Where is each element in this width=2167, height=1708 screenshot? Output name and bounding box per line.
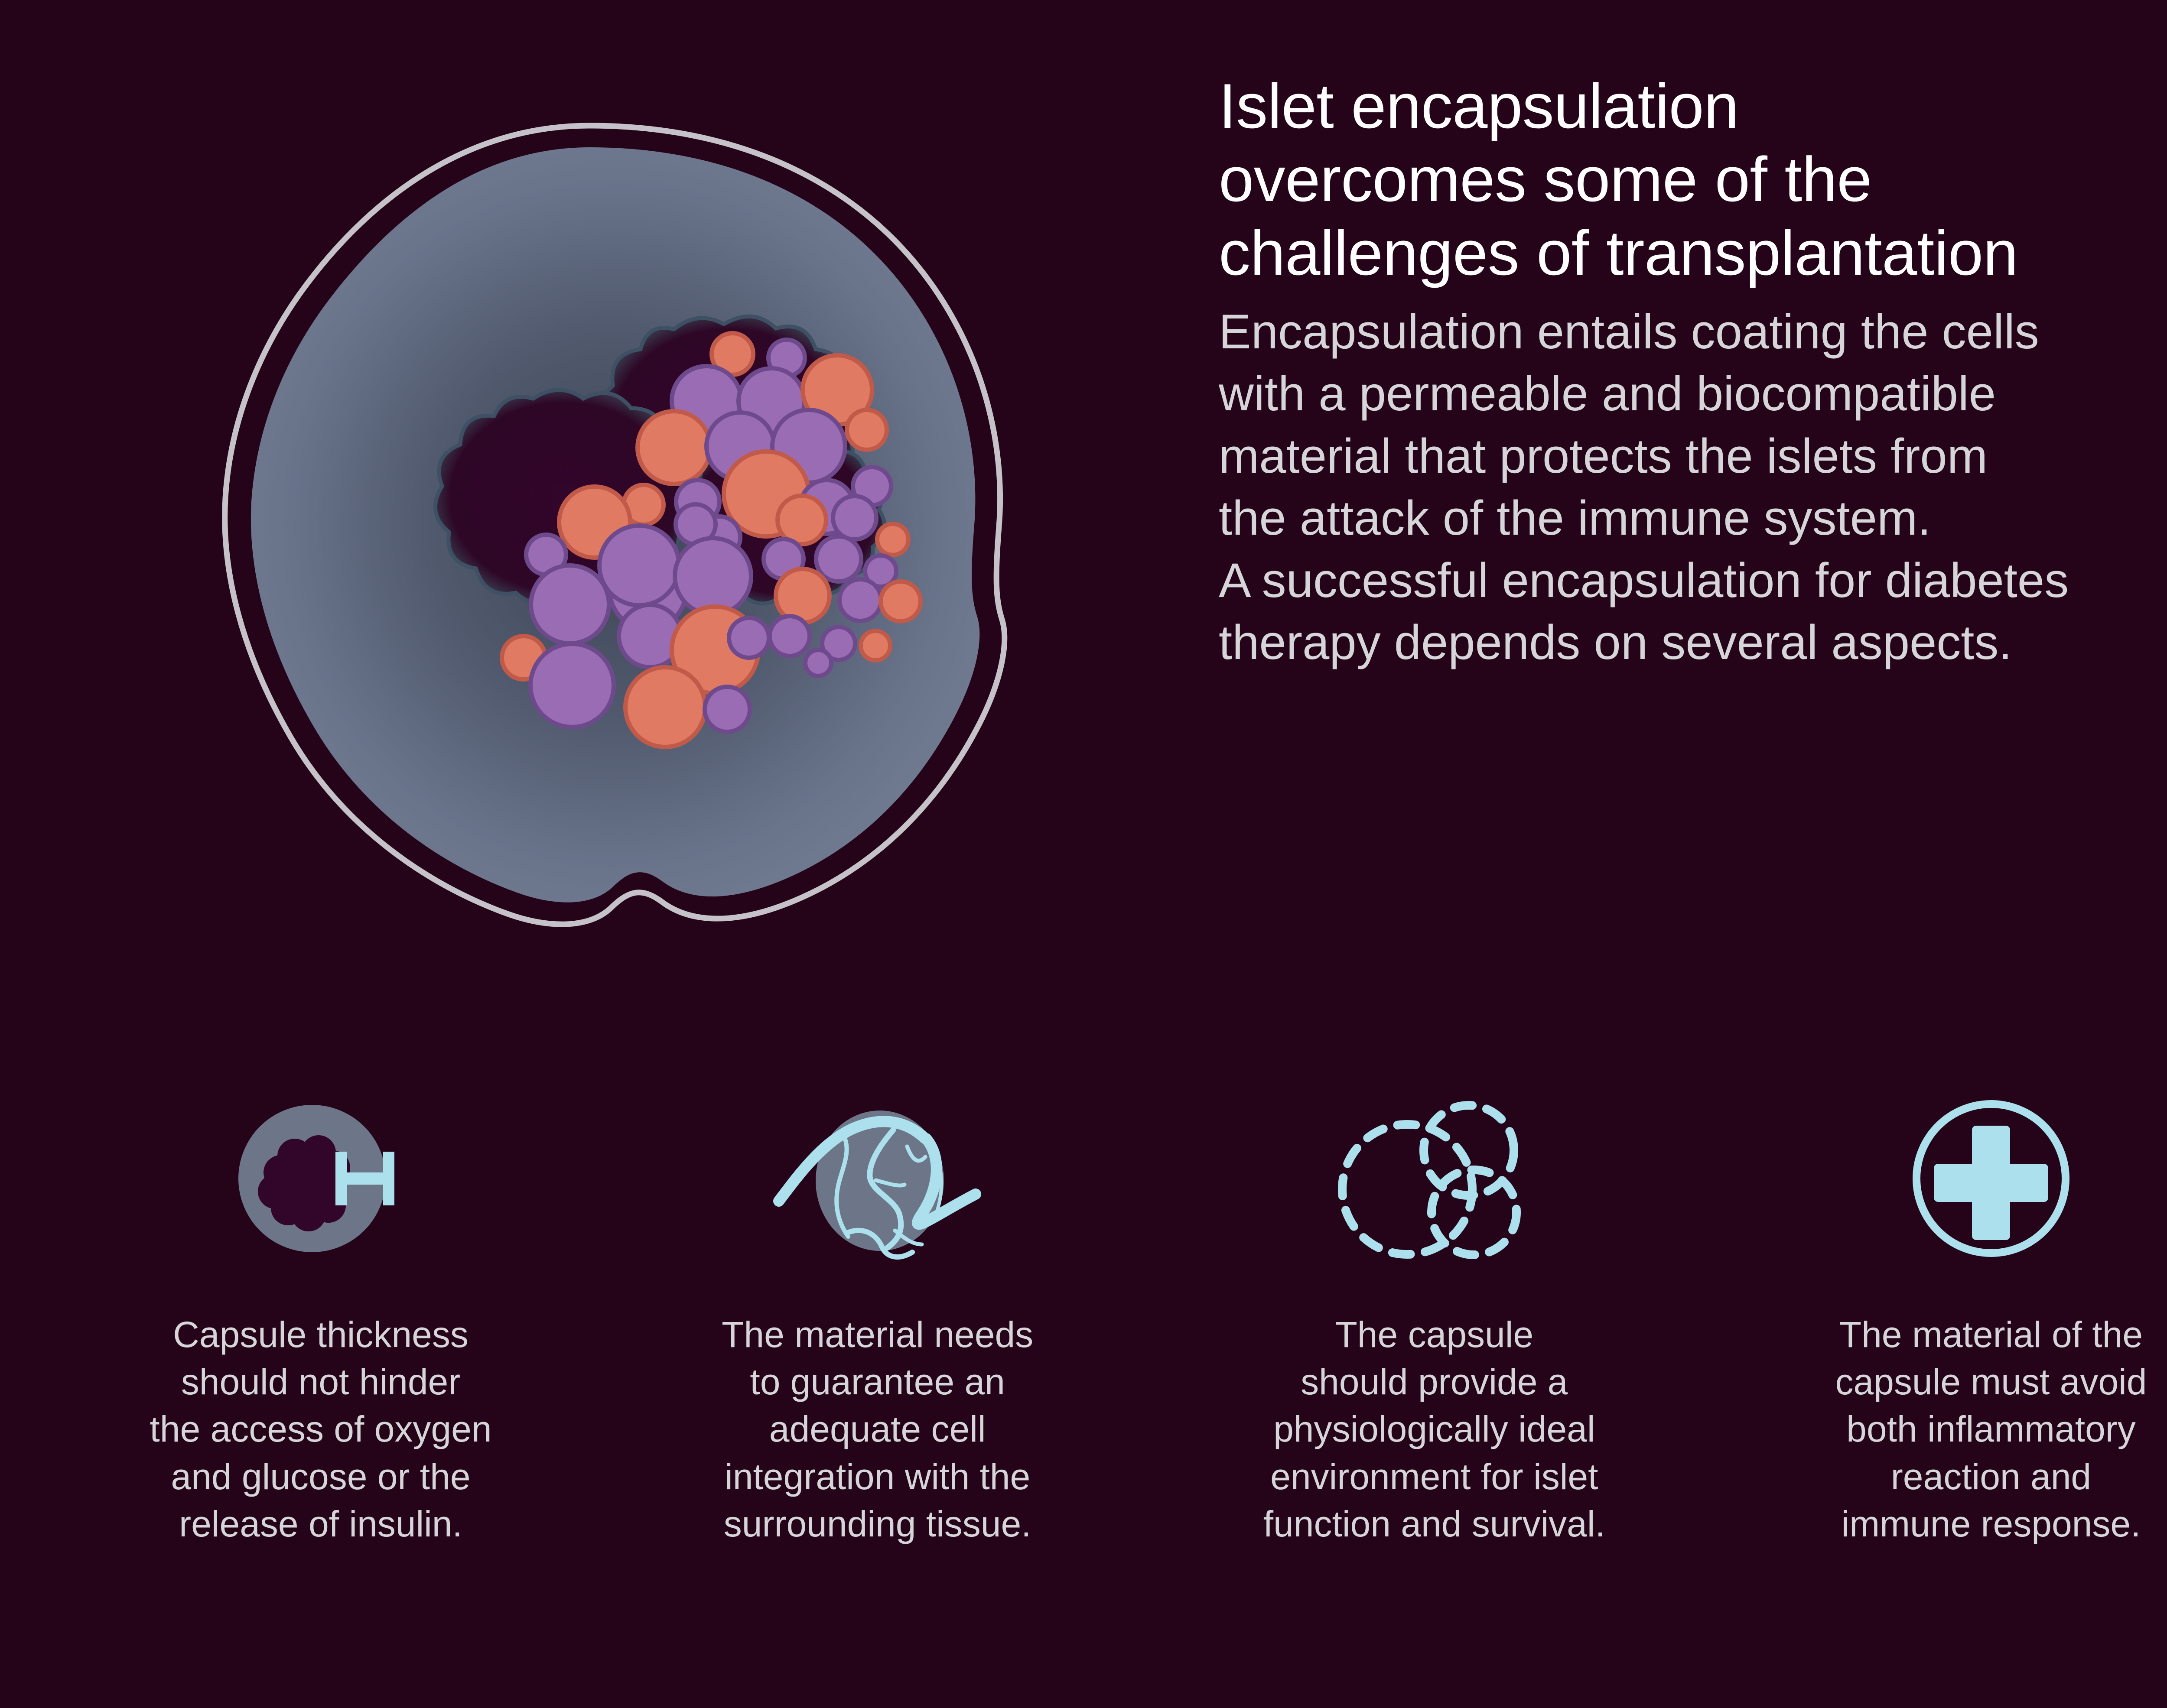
feature-caption: The capsule should provide a physiologic… bbox=[1263, 1311, 1605, 1548]
feature-immune-response: The material of the capsule must avoid b… bbox=[1735, 1066, 2167, 1548]
feature-caption: The material of the capsule must avoid b… bbox=[1835, 1311, 2147, 1548]
vascularized-capsule-icon bbox=[756, 1066, 999, 1291]
medical-cross-circle-icon bbox=[1870, 1066, 2112, 1291]
feature-cell-integration: The material needs to guarantee an adequ… bbox=[622, 1066, 1133, 1548]
dashed-cell-cluster-icon bbox=[1313, 1066, 1555, 1291]
page-title: Islet encapsulation overcomes some of th… bbox=[1219, 69, 2167, 289]
feature-capsule-thickness: Capsule thickness should not hinder the … bbox=[65, 1066, 576, 1548]
dashed-circle-large bbox=[1342, 1124, 1472, 1254]
infographic-canvas: Islet encapsulation overcomes some of th… bbox=[0, 0, 2167, 1708]
feature-physiological-environment: The capsule should provide a physiologic… bbox=[1178, 1066, 1690, 1548]
feature-caption: Capsule thickness should not hinder the … bbox=[150, 1311, 491, 1548]
feature-caption: The material needs to guarantee an adequ… bbox=[722, 1311, 1033, 1548]
cross-shape bbox=[1934, 1126, 2048, 1240]
encapsulated-islet-illustration bbox=[156, 87, 1023, 953]
text-column: Islet encapsulation overcomes some of th… bbox=[1219, 69, 2167, 673]
capsule-thickness-icon bbox=[199, 1066, 442, 1291]
feature-row: Capsule thickness should not hinder the … bbox=[0, 1066, 2167, 1681]
body-paragraph: Encapsulation entails coating the cells … bbox=[1219, 301, 2167, 673]
